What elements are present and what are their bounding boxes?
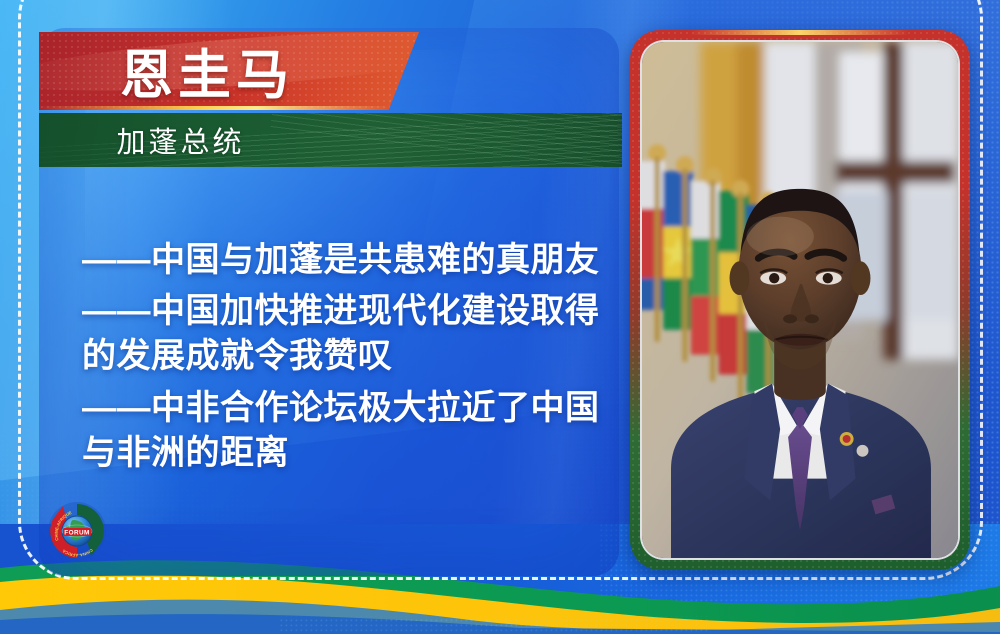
portrait-frame-gold-highlight: [691, 30, 909, 35]
quote-line-3: ——中非合作论坛极大拉近了中国与非洲的距离: [82, 386, 602, 476]
broadcast-lower-third-graphic: 恩圭马 加蓬总统 ——中国与加蓬是共患难的真朋友 ——中国加快推进现代化建设取得…: [0, 0, 1000, 634]
quote-line-2: ——中国加快推进现代化建设取得的发展成就令我赞叹: [82, 289, 602, 379]
role-subtitle: 加蓬总统: [39, 113, 622, 167]
focac-logo: FORUM CHINE-AFRIQUE CHINA-AFRICA: [46, 500, 108, 562]
portrait-photo: [640, 40, 960, 560]
quote-list: ——中国与加蓬是共患难的真朋友 ——中国加快推进现代化建设取得的发展成就令我赞叹…: [82, 238, 602, 482]
portrait-frame: [630, 30, 970, 570]
role-banner: 加蓬总统: [39, 113, 622, 167]
page-title: 恩圭马: [39, 32, 419, 110]
quote-line-1: ——中国与加蓬是共患难的真朋友: [82, 238, 602, 283]
svg-text:FORUM: FORUM: [64, 530, 89, 537]
name-banner: 恩圭马: [39, 32, 419, 110]
